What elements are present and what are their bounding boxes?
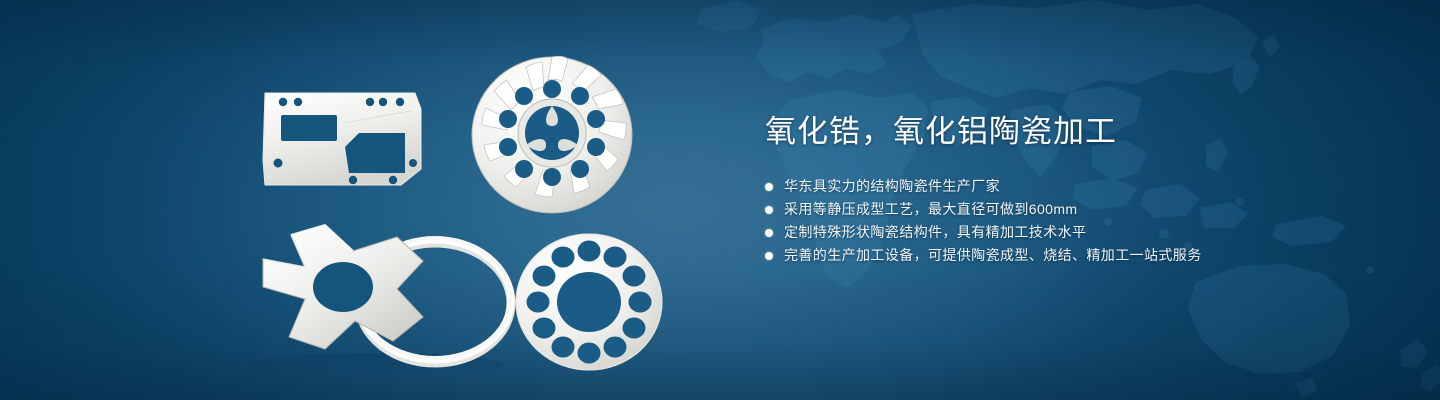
list-item: 华东具实力的结构陶瓷件生产厂家 [765, 175, 1385, 198]
list-item-label: 定制特殊形状陶瓷结构件，具有精加工技术水平 [784, 221, 1086, 244]
bullet-dot-icon [765, 252, 773, 260]
page-title: 氧化锆，氧化铝陶瓷加工 [765, 112, 1385, 152]
list-item: 完善的生产加工设备，可提供陶瓷成型、烧结、精加工一站式服务 [765, 244, 1385, 267]
feature-list: 华东具实力的结构陶瓷件生产厂家 采用等静压成型工艺，最大直径可做到600mm 定… [765, 175, 1385, 267]
ceramic-promo-banner: 氧化锆，氧化铝陶瓷加工 华东具实力的结构陶瓷件生产厂家 采用等静压成型工艺，最大… [0, 0, 1440, 400]
bullet-dot-icon [765, 229, 773, 237]
list-item: 定制特殊形状陶瓷结构件，具有精加工技术水平 [765, 221, 1385, 244]
list-item-label: 完善的生产加工设备，可提供陶瓷成型、烧结、精加工一站式服务 [784, 244, 1202, 267]
bullet-dot-icon [765, 183, 773, 191]
banner-copy: 氧化锆，氧化铝陶瓷加工 华东具实力的结构陶瓷件生产厂家 采用等静压成型工艺，最大… [765, 112, 1385, 283]
list-item-label: 华东具实力的结构陶瓷件生产厂家 [784, 175, 1000, 198]
list-item: 采用等静压成型工艺，最大直径可做到600mm [765, 198, 1385, 221]
bullet-dot-icon [765, 206, 773, 214]
list-item-label: 采用等静压成型工艺，最大直径可做到600mm [784, 198, 1077, 221]
